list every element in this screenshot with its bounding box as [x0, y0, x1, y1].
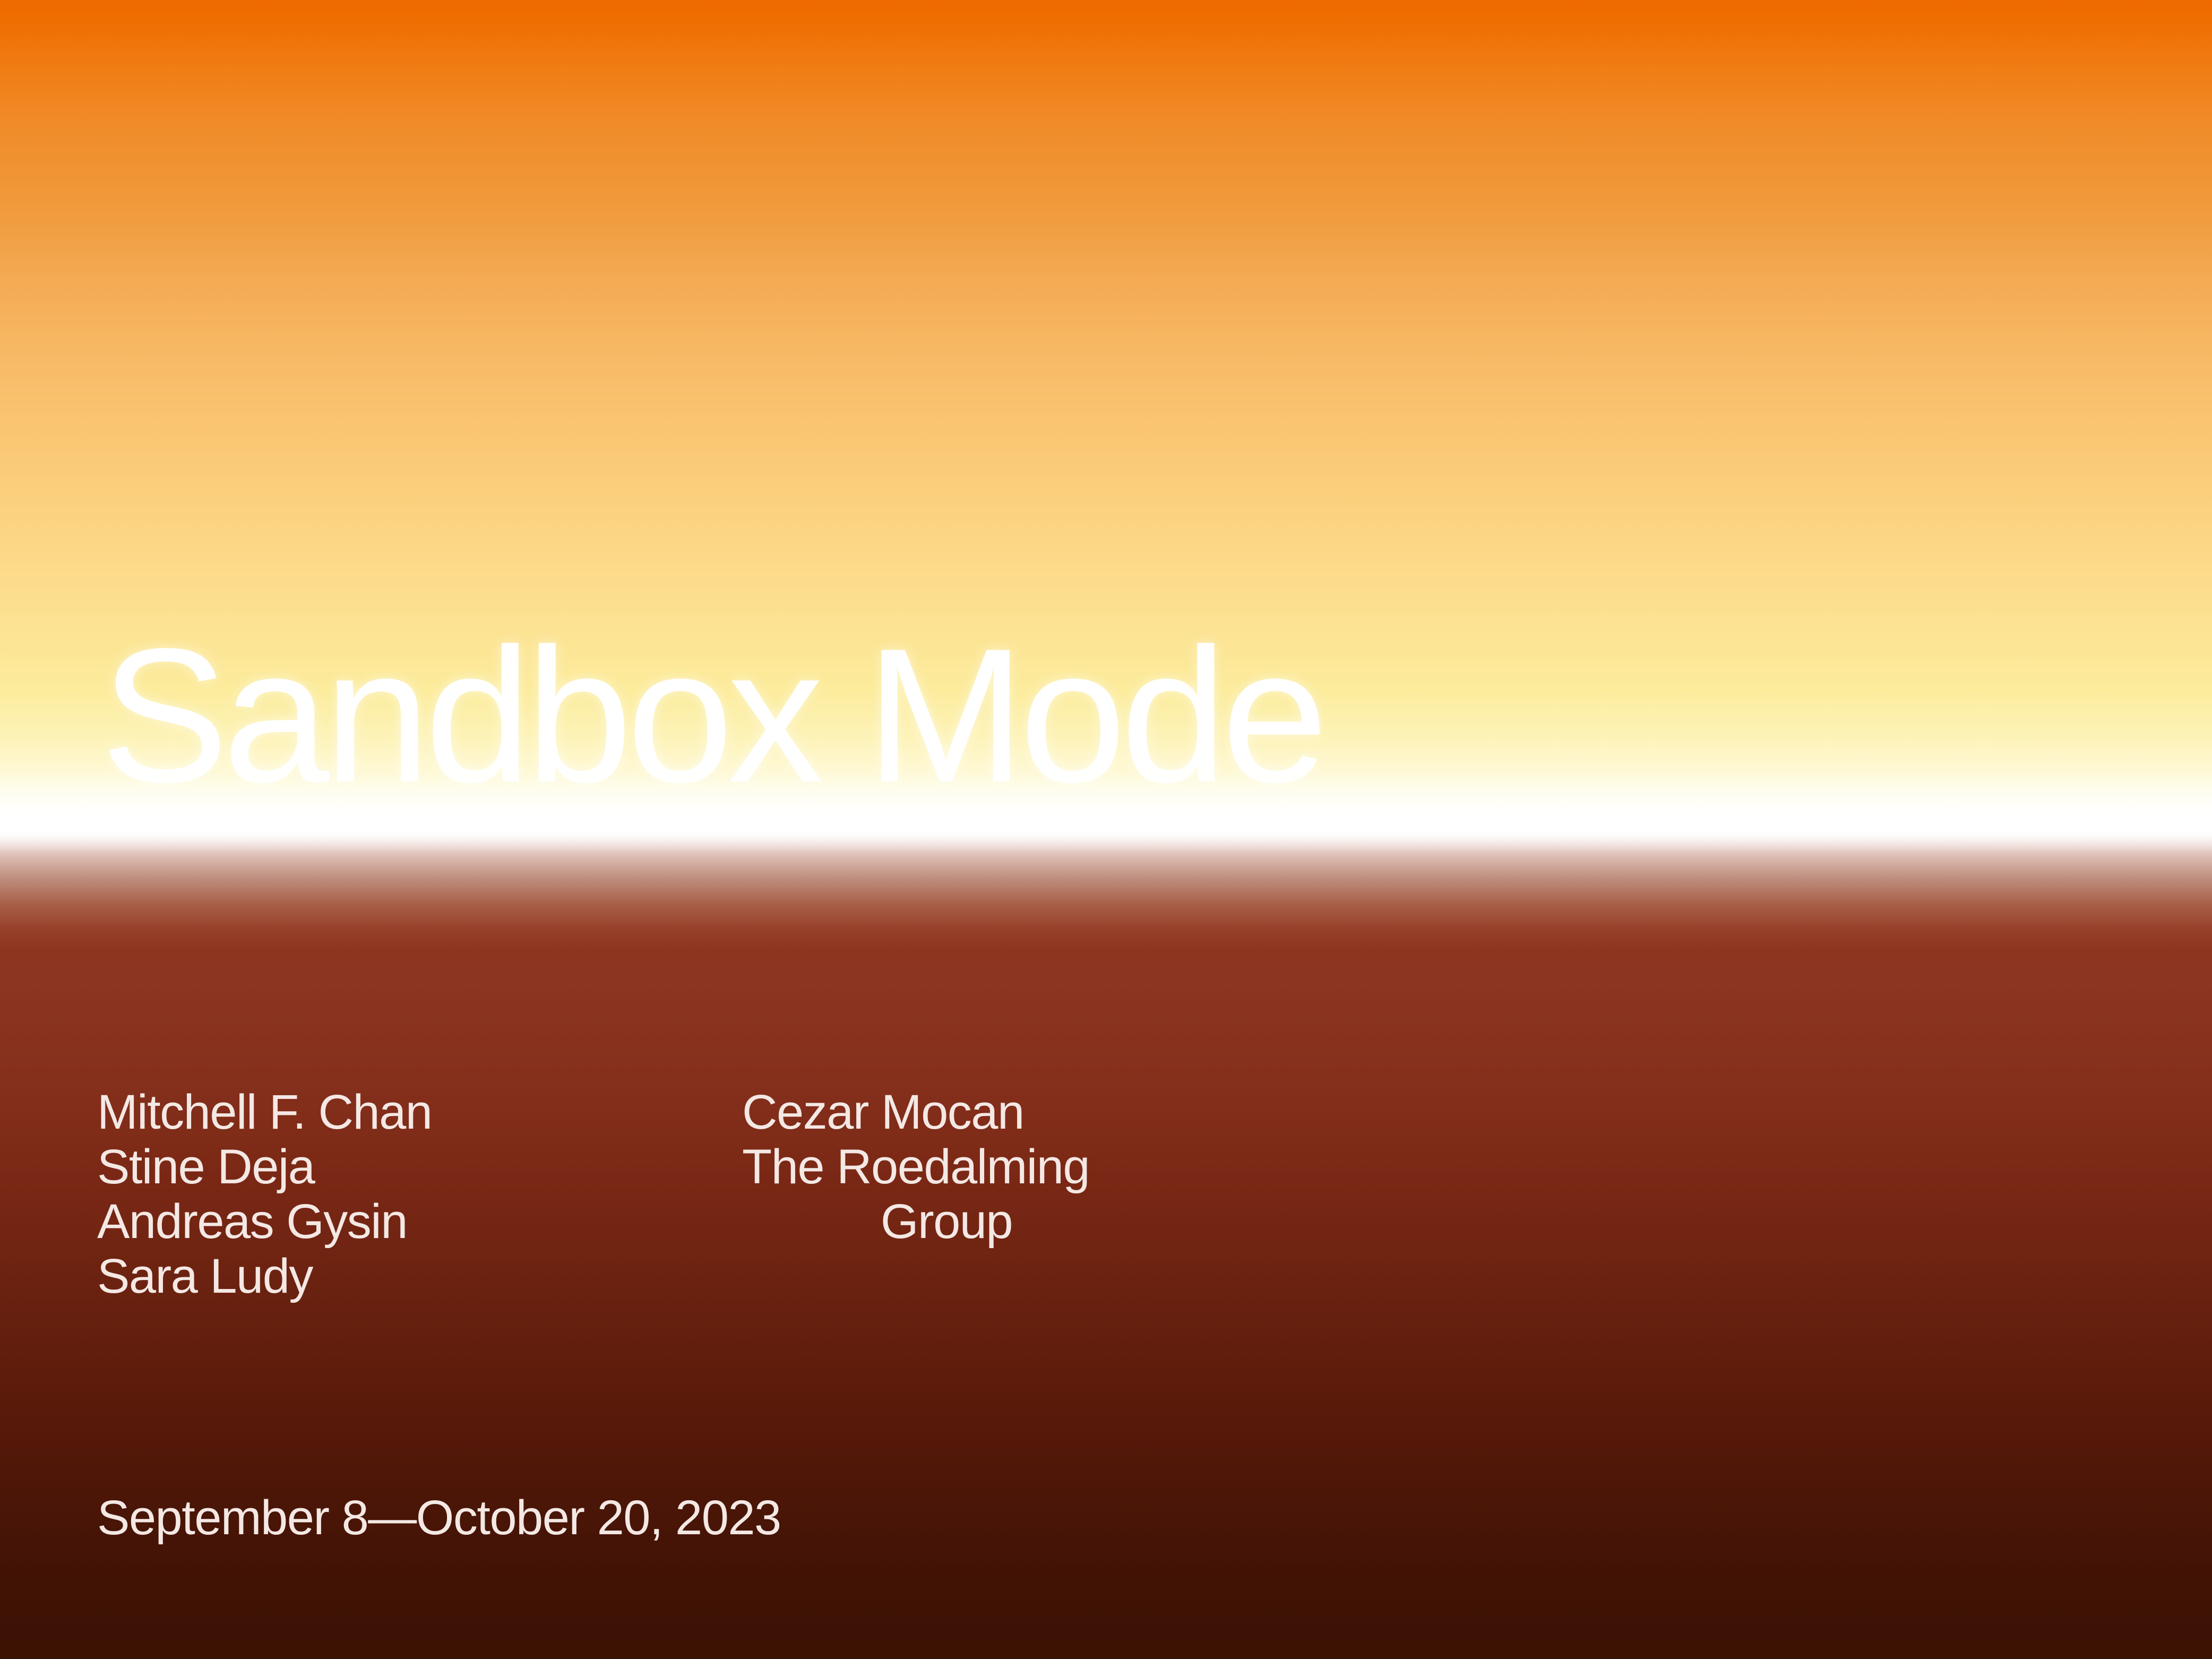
artist-name: Mitchell F. Chan — [97, 1085, 742, 1140]
exhibition-poster: Sandbox Mode Mitchell F. Chan Stine Deja… — [0, 0, 2212, 1659]
artist-name: Sara Ludy — [97, 1249, 742, 1304]
artist-name: Andreas Gysin — [97, 1194, 742, 1249]
artist-credits: Mitchell F. Chan Stine Deja Andreas Gysi… — [97, 1085, 1432, 1304]
title-region: Sandbox Mode — [0, 0, 2212, 830]
artist-column-left: Mitchell F. Chan Stine Deja Andreas Gysi… — [97, 1085, 742, 1304]
artist-name: Stine Deja — [97, 1140, 742, 1194]
exhibition-dates: September 8—October 20, 2023 — [97, 1491, 781, 1545]
artist-column-right: Cezar Mocan The Roedalming Group — [742, 1085, 1432, 1249]
artist-name: The Roedalming — [742, 1140, 1432, 1194]
page-title: Sandbox Mode — [101, 620, 1323, 811]
artist-name: Group — [742, 1194, 1432, 1249]
artist-name: Cezar Mocan — [742, 1085, 1432, 1140]
